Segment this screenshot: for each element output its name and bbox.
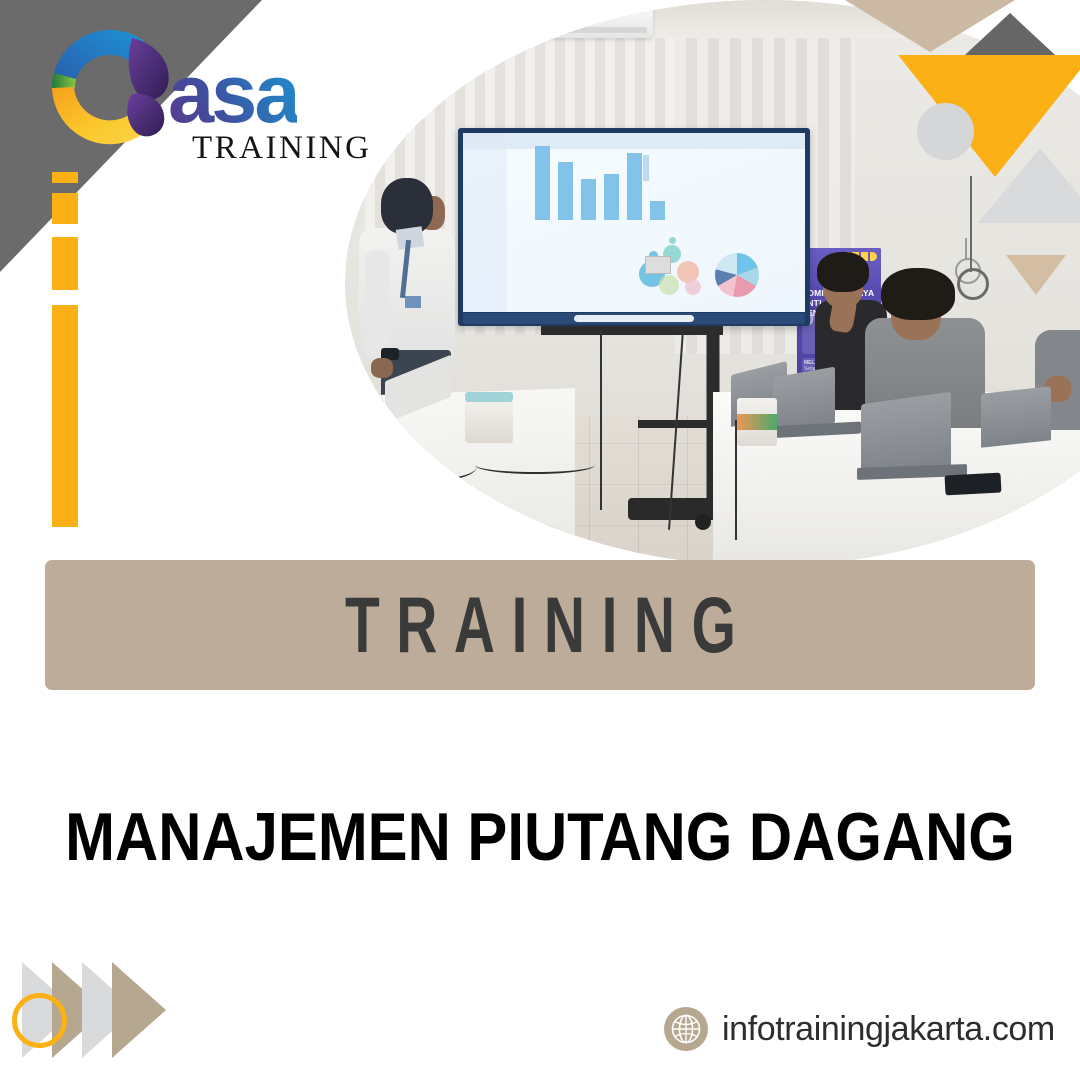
tick-4 — [52, 305, 78, 527]
presenter-badge — [405, 296, 421, 308]
wall-display — [458, 128, 810, 326]
cable-table — [735, 420, 737, 540]
poster-canvas: KOMITMEN SAYA ANTI PENYUAPAN 01 MENERAPK… — [0, 0, 1080, 1080]
dashboard-bar-1 — [535, 146, 550, 220]
air-conditioner — [533, 2, 653, 38]
cable-front — [407, 452, 477, 480]
logo-circle-svg — [36, 14, 184, 162]
tissue-box-front — [465, 398, 513, 443]
training-band-label: TRAINING — [328, 579, 752, 671]
participant-2-head — [881, 268, 955, 320]
presenter-hand — [371, 358, 393, 378]
tick-1 — [52, 172, 78, 183]
display-bottom-bar — [463, 313, 805, 324]
tissue-box-right-label — [737, 414, 777, 430]
smartphone-on-table — [945, 473, 1002, 496]
dashboard-bar-2 — [558, 162, 573, 220]
dashboard-ribbon — [463, 133, 805, 149]
logo-mark-icon — [36, 14, 184, 162]
laptop-4 — [981, 386, 1051, 447]
logo-tagline: TRAINING — [192, 132, 371, 165]
brand-logo: asa TRAINING — [36, 14, 356, 164]
stand-wheel-right — [695, 514, 711, 530]
presenter-arm — [365, 250, 389, 360]
display-screen — [463, 133, 805, 312]
pin-ring-icon — [957, 268, 989, 300]
display-toolbar — [574, 315, 694, 322]
dashboard-left-pane — [463, 133, 507, 312]
dashboard-bar-6 — [650, 201, 665, 220]
website-footer[interactable]: infotrainingjakarta.com — [664, 1007, 1055, 1051]
dashboard-pie-chart — [715, 253, 759, 297]
training-band: TRAINING — [45, 560, 1035, 690]
dashboard-bubble-7 — [669, 237, 676, 244]
website-url[interactable]: infotrainingjakarta.com — [722, 1010, 1055, 1049]
globe-icon — [664, 1007, 708, 1051]
tissue-box-front-top — [465, 392, 513, 402]
dashboard-bar-3 — [581, 179, 596, 220]
dashboard-bar-4 — [604, 174, 619, 220]
tick-3 — [52, 237, 78, 290]
wall-hook-line — [965, 238, 967, 260]
yellow-ring-icon — [12, 993, 67, 1048]
circle-light-gray-icon — [917, 103, 974, 160]
participant-1-glasses — [827, 278, 851, 288]
chevron-4-icon — [112, 962, 166, 1058]
tick-2 — [52, 193, 78, 224]
page-title: MANAJEMEN PIUTANG DAGANG — [65, 798, 1015, 876]
wall-socket — [645, 256, 671, 274]
triangle-up-light-gray-icon — [978, 148, 1080, 223]
logo-wordmark: asa — [168, 52, 297, 135]
triangle-down-tan-small-icon — [1006, 255, 1066, 295]
dashboard-bar-5 — [627, 153, 642, 220]
presenter-head — [381, 178, 433, 234]
pin-line — [970, 176, 972, 272]
dashboard-bubble-5 — [685, 279, 701, 295]
cable-front-2 — [475, 456, 595, 474]
display-stand-arm — [541, 326, 723, 335]
dashboard-mini-widget — [643, 155, 649, 181]
dashboard-bubble-4 — [659, 275, 679, 295]
globe-icon-svg — [664, 1007, 708, 1051]
cable-tv-left — [600, 330, 602, 510]
